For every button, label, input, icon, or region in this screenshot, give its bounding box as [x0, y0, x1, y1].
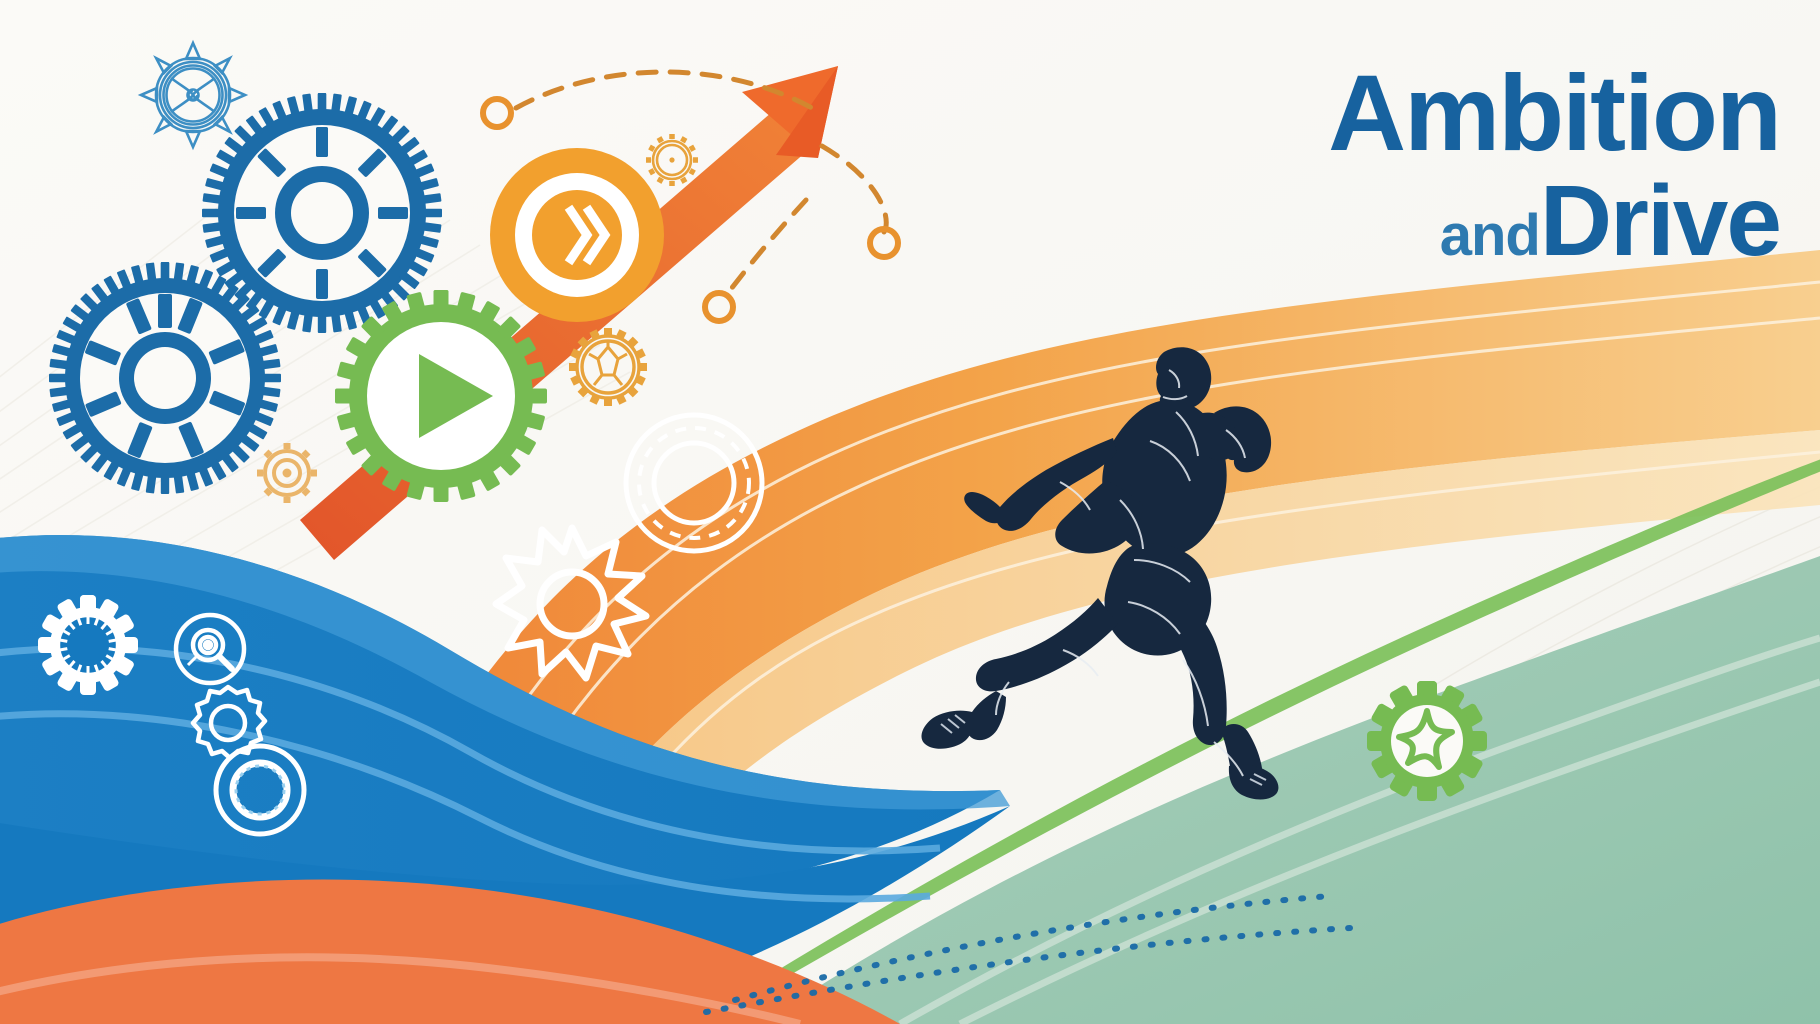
orange-ring-chevron-icon: [490, 148, 664, 322]
compass-gear-outline-icon: [141, 43, 245, 147]
blue-gear-large-top-icon: [202, 93, 442, 333]
blue-gear-large-left-icon: [49, 262, 281, 494]
banner-artwork: [0, 0, 1820, 1024]
orange-gear-mini-icon: [257, 443, 317, 503]
green-gear-play-icon: [335, 290, 547, 502]
banner-canvas: Ambition andDrive: [0, 0, 1820, 1024]
